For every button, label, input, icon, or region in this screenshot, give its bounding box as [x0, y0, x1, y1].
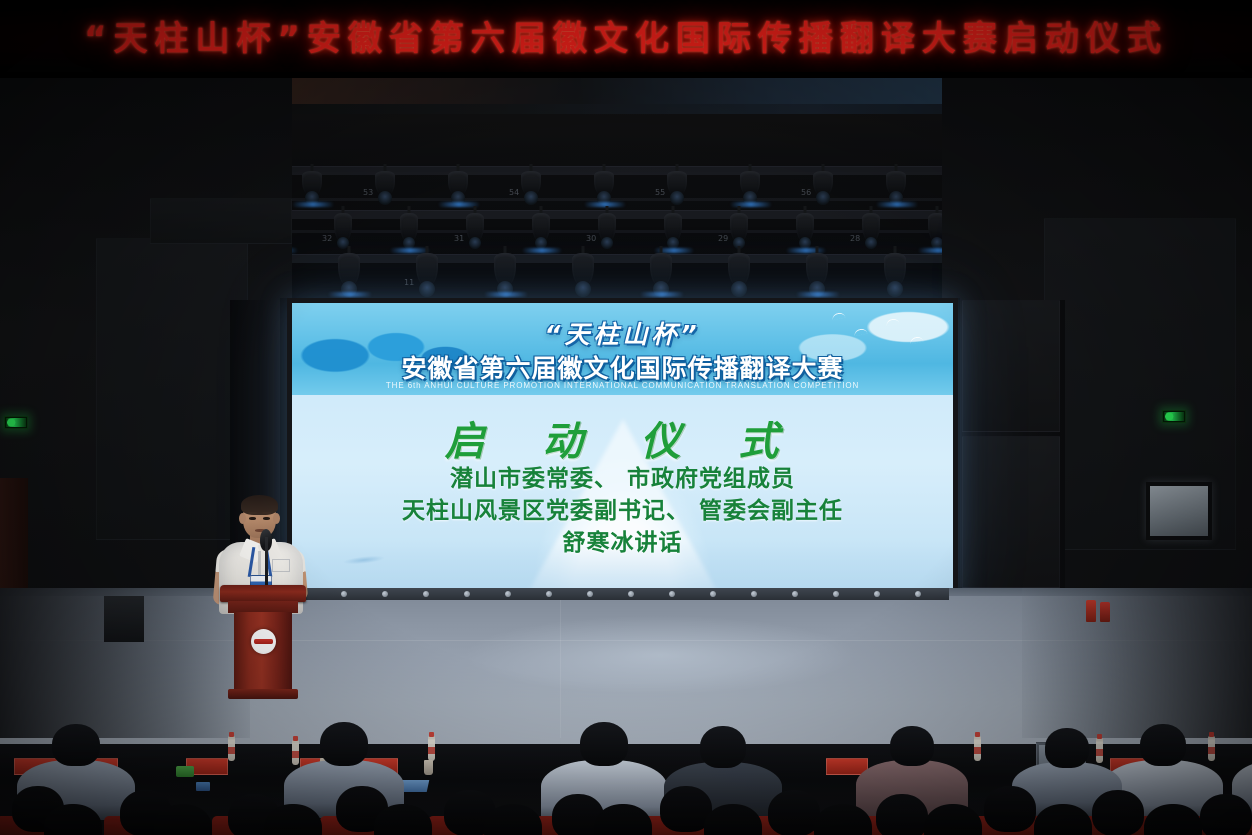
stage-light-fixture [466, 206, 484, 246]
slide-ceremony-heading: 启 动 仪 式 [292, 409, 953, 467]
truss-accent-light [292, 202, 334, 207]
fixture-lens [731, 281, 747, 297]
truss-accent-light [328, 292, 372, 297]
podium-base [228, 689, 298, 699]
conference-hall-photo: “天柱山杯”安徽省第六届徽文化国际传播翻译大赛启动仪式 515253545556… [0, 0, 1252, 835]
slide-content: “天柱山杯” 安徽省第六届徽文化国际传播翻译大赛 THE 6th ANHUI C… [292, 303, 953, 595]
speaker-eyebrow [248, 512, 257, 514]
slide-line: 天柱山风景区党委副书记、 管委会副主任 [292, 495, 953, 527]
led-display-screen: “天柱山杯” 安徽省第六届徽文化国际传播翻译大赛 THE 6th ANHUI C… [287, 298, 958, 600]
rail-bolt [874, 591, 880, 597]
water-bottle [292, 740, 299, 765]
stage-light-fixture [740, 164, 760, 200]
stage-light-fixture [728, 246, 750, 290]
stage-light-fixture [521, 164, 541, 200]
fixture-lens [670, 191, 684, 205]
side-door [0, 478, 28, 588]
water-bottle [1208, 736, 1215, 761]
microphone [258, 515, 274, 587]
fixture-lens [378, 191, 392, 205]
stage-light-fixture [400, 206, 418, 246]
stage-light-fixture [886, 164, 906, 200]
slide-title-sub: 安徽省第六届徽文化国际传播翻译大赛 [292, 349, 953, 385]
podium-emblem [251, 629, 276, 654]
audience-person-head [768, 790, 820, 835]
fixture-number-label: 54 [509, 188, 519, 197]
fixture-number-label: 55 [655, 188, 665, 197]
phone-device [196, 782, 210, 791]
stage-light-fixture [302, 164, 322, 200]
rail-bolt [833, 591, 839, 597]
water-bottle [1096, 738, 1103, 763]
fire-extinguisher [1100, 602, 1110, 622]
audience-person-head [984, 786, 1036, 832]
slide-line: 舒寒冰讲话 [292, 527, 953, 559]
rail-bolt [546, 591, 552, 597]
led-banner-text: “天柱山杯”安徽省第六届徽文化国际传播翻译大赛启动仪式 [0, 18, 1252, 60]
slide-title-main: “天柱山杯” [292, 315, 953, 351]
rail-bolt [464, 591, 470, 597]
truss-accent-light [640, 292, 684, 297]
rail-bolt [341, 591, 347, 597]
water-bottle [228, 736, 235, 761]
water-bottle [428, 736, 435, 761]
audience-person-head [1045, 728, 1089, 768]
rail-bolt [915, 591, 921, 597]
fixture-lens [469, 237, 481, 249]
stage-equipment-case [104, 596, 144, 642]
stage-light-fixture [572, 246, 594, 290]
truss-accent-light [522, 248, 562, 253]
banner-bottom-edge [0, 72, 1252, 78]
floor-reflection [380, 600, 940, 710]
fixture-lens [887, 281, 903, 297]
fixture-number-label: 30 [586, 234, 596, 243]
stage-light-fixture [796, 206, 814, 246]
audience-person-head [876, 794, 928, 835]
rail-bolt [669, 591, 675, 597]
fire-extinguisher [1086, 600, 1096, 622]
audience-person-head [1140, 724, 1186, 766]
stage-light-fixture [532, 206, 550, 246]
stage-light-fixture [594, 164, 614, 200]
rail-bolt [628, 591, 634, 597]
rail-bolt [751, 591, 757, 597]
audience-person-head [580, 722, 628, 766]
podium [220, 585, 306, 703]
truss-accent-light [796, 292, 840, 297]
speaker-eyebrow [262, 512, 271, 514]
stage-light-fixture [806, 246, 828, 290]
fixture-number-label: 28 [850, 234, 860, 243]
wall-window [1146, 482, 1212, 540]
stage-light-fixture [448, 164, 468, 200]
stage-light-fixture [375, 164, 395, 200]
exit-sign-icon [4, 416, 28, 429]
fixture-number-label: 56 [801, 188, 811, 197]
speaker-ear [239, 513, 246, 524]
microphone-stem [265, 537, 268, 589]
rail-bolt [587, 591, 593, 597]
back-panel [962, 300, 1060, 432]
stage-light-fixture [862, 206, 880, 246]
rail-bolt [710, 591, 716, 597]
stage-light-fixture [338, 246, 360, 290]
fixture-number-label: 29 [718, 234, 728, 243]
led-banner: “天柱山杯”安徽省第六届徽文化国际传播翻译大赛启动仪式 [0, 0, 1252, 78]
stage-light-fixture [813, 164, 833, 200]
speaker-eye [249, 517, 256, 520]
fixture-lens [575, 281, 591, 297]
fixture-number-label: 32 [322, 234, 332, 243]
rail-bolt [792, 591, 798, 597]
stage-light-fixture [598, 206, 616, 246]
truss-accent-light [876, 202, 918, 207]
slide-title-english: THE 6th ANHUI CULTURE PROMOTION INTERNAT… [292, 381, 953, 390]
fixture-lens [865, 237, 877, 249]
audience-person-head [700, 726, 746, 768]
stage-light-fixture [664, 206, 682, 246]
slide-line: 潜山市委常委、 市政府党组成员 [292, 463, 953, 495]
stage-light-fixture [650, 246, 672, 290]
exit-sign-icon [1162, 410, 1186, 423]
slide-header-band: “天柱山杯” 安徽省第六届徽文化国际传播翻译大赛 THE 6th ANHUI C… [292, 303, 953, 395]
fixture-lens [419, 281, 435, 297]
wall-panel [150, 198, 292, 244]
back-panel [962, 436, 1060, 588]
stage-light-fixture [730, 206, 748, 246]
fixture-number-label: 11 [404, 278, 414, 287]
wall-panel [96, 238, 248, 540]
rail-bolt [382, 591, 388, 597]
speaker-ear [273, 513, 280, 524]
stage-light-fixture [416, 246, 438, 290]
rail-bolt [423, 591, 429, 597]
audience-person-head [52, 724, 100, 766]
stage-light-fixture [494, 246, 516, 290]
stage-light-fixture [884, 246, 906, 290]
fixture-number-label: 53 [363, 188, 373, 197]
green-item [176, 766, 194, 777]
fixture-lens [601, 237, 613, 249]
speaker-shirt-pocket [272, 559, 290, 572]
podium-top [220, 585, 306, 602]
water-bottle [974, 736, 981, 761]
speaker-hair [241, 495, 278, 515]
stage-light-fixture [667, 164, 687, 200]
fixture-number-label: 31 [454, 234, 464, 243]
stage-light-fixture [334, 206, 352, 246]
fixture-lens [816, 191, 830, 205]
slide-speaker-lines: 潜山市委常委、 市政府党组成员 天柱山风景区党委副书记、 管委会副主任 舒寒冰讲… [292, 463, 953, 559]
audience-person-head [1092, 790, 1144, 835]
audience-person-head [320, 722, 368, 766]
fixture-lens [524, 191, 538, 205]
audience-area [0, 700, 1252, 835]
paper-cup [424, 760, 433, 775]
rail-bolt [505, 591, 511, 597]
audience-person-head [890, 726, 934, 766]
audience-person-head [1200, 794, 1252, 835]
truss-accent-light [484, 292, 528, 297]
